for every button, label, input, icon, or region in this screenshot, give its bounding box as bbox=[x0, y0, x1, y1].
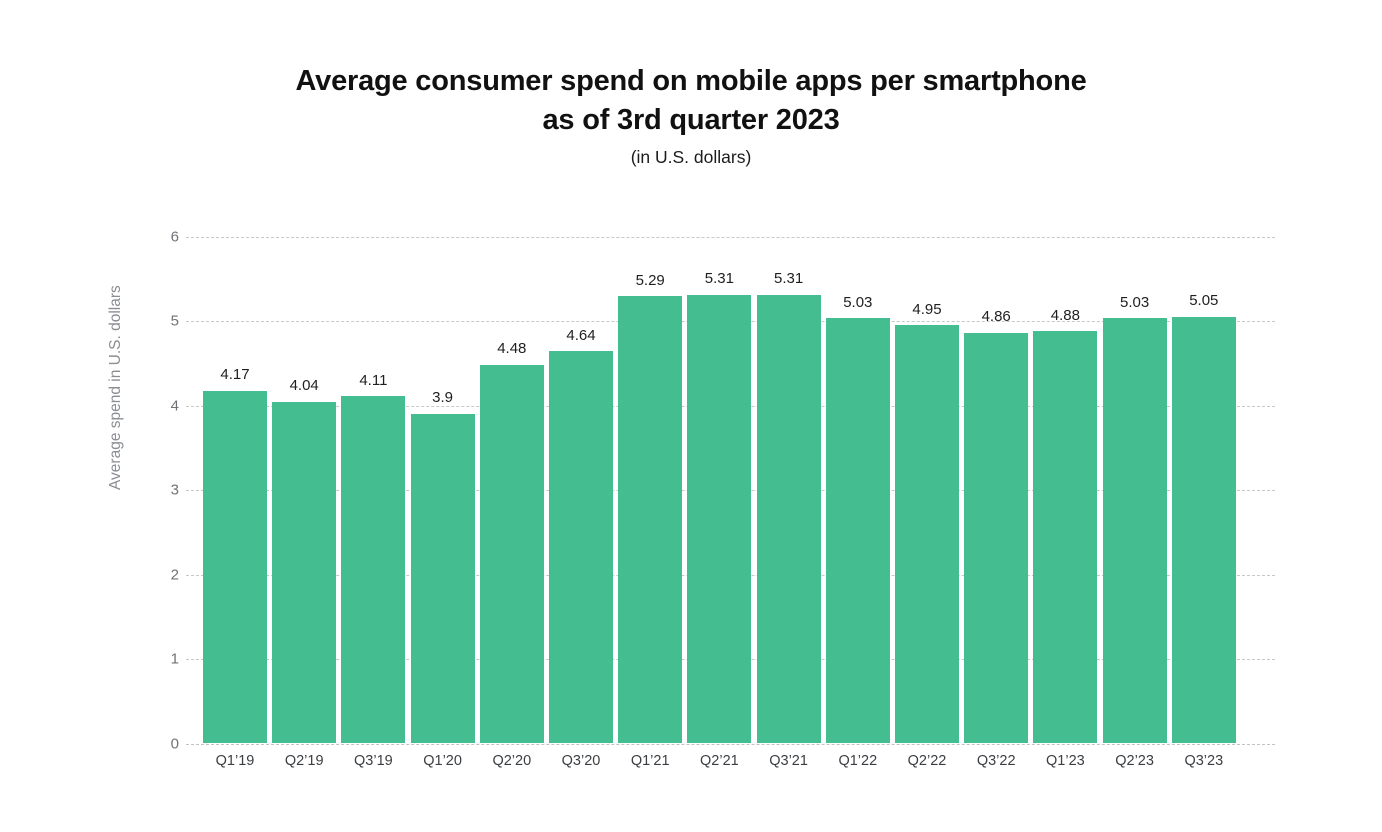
bar-value-label: 4.11 bbox=[328, 372, 418, 389]
bar[interactable] bbox=[341, 396, 405, 743]
bar[interactable] bbox=[480, 365, 544, 743]
bar[interactable] bbox=[1172, 317, 1236, 743]
bar[interactable] bbox=[1103, 318, 1167, 743]
bar-value-label: 3.9 bbox=[398, 389, 488, 406]
bar[interactable] bbox=[272, 402, 336, 743]
x-axis-tick-label: Q3’23 bbox=[1159, 753, 1249, 769]
bar[interactable] bbox=[757, 295, 821, 743]
bar-value-label: 4.64 bbox=[536, 327, 626, 344]
bar[interactable] bbox=[1033, 331, 1097, 743]
bar[interactable] bbox=[549, 351, 613, 743]
bar[interactable] bbox=[687, 295, 751, 743]
bar[interactable] bbox=[895, 325, 959, 743]
bar-chart-plot-area: Average spend in U.S. dollars 0123456 4.… bbox=[0, 0, 1382, 832]
bar-value-label: 5.31 bbox=[744, 270, 834, 287]
bar[interactable] bbox=[203, 391, 267, 743]
bar-value-label: 5.05 bbox=[1159, 292, 1249, 309]
bar[interactable] bbox=[964, 333, 1028, 743]
bar[interactable] bbox=[618, 296, 682, 743]
bar[interactable] bbox=[826, 318, 890, 743]
bar[interactable] bbox=[411, 414, 475, 743]
bars-layer: 4.174.044.113.94.484.645.295.315.315.034… bbox=[0, 0, 1382, 832]
